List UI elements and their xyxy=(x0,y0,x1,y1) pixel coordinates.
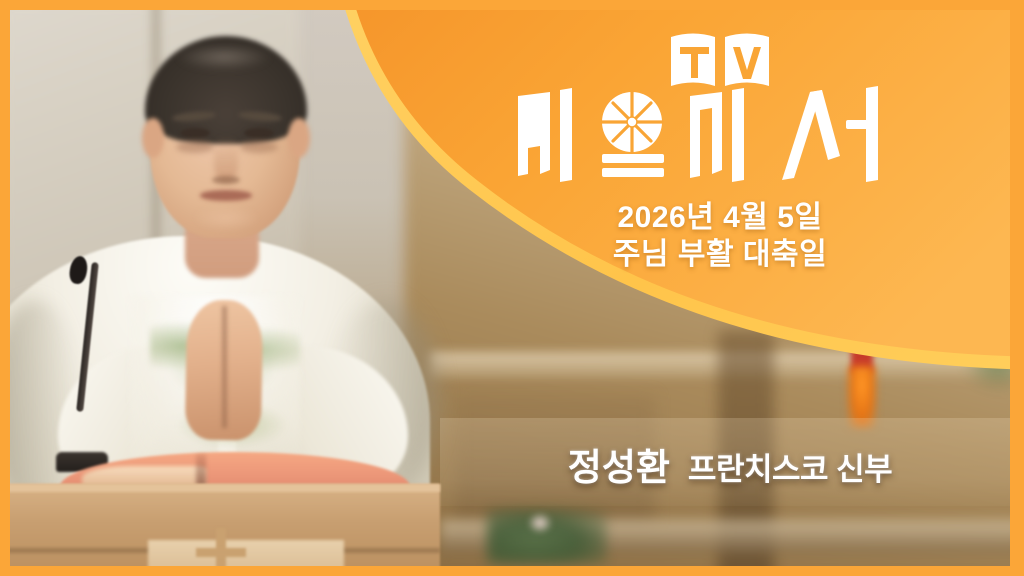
nostrils xyxy=(212,176,240,184)
hair-highlight xyxy=(176,44,272,70)
tv-book-logo xyxy=(667,28,773,94)
lectern-plaque xyxy=(148,540,344,576)
lamp-glow xyxy=(848,366,876,428)
celebrant-name: 정성환 xyxy=(568,447,670,488)
under-eye-right xyxy=(240,141,278,153)
eye-right xyxy=(244,128,274,138)
program-title xyxy=(470,86,970,182)
lectern-top-edge xyxy=(0,484,440,492)
ear-left xyxy=(142,118,164,158)
eye-left xyxy=(180,128,210,138)
ear-right xyxy=(288,118,310,158)
celebrant-lower-third: 정성환프란치스코 신부 xyxy=(470,437,990,491)
celebrant-title: 프란치스코 신부 xyxy=(688,452,892,487)
program-title-wordmark xyxy=(510,86,930,182)
lectern-cross-crossbar xyxy=(196,548,246,557)
background-plant-right xyxy=(963,332,1024,392)
chin xyxy=(194,206,258,230)
background-flower xyxy=(527,512,553,534)
open-book-icon xyxy=(667,28,773,94)
mass-feast: 주님 부활 대축일 xyxy=(470,229,970,273)
mouth xyxy=(200,190,252,201)
under-eye-left xyxy=(176,141,214,153)
praying-hands-seam xyxy=(222,306,227,428)
broadcast-frame: 2026년 4월 5일 주님 부활 대축일 정성환프란치스코 신부 xyxy=(0,0,1024,576)
